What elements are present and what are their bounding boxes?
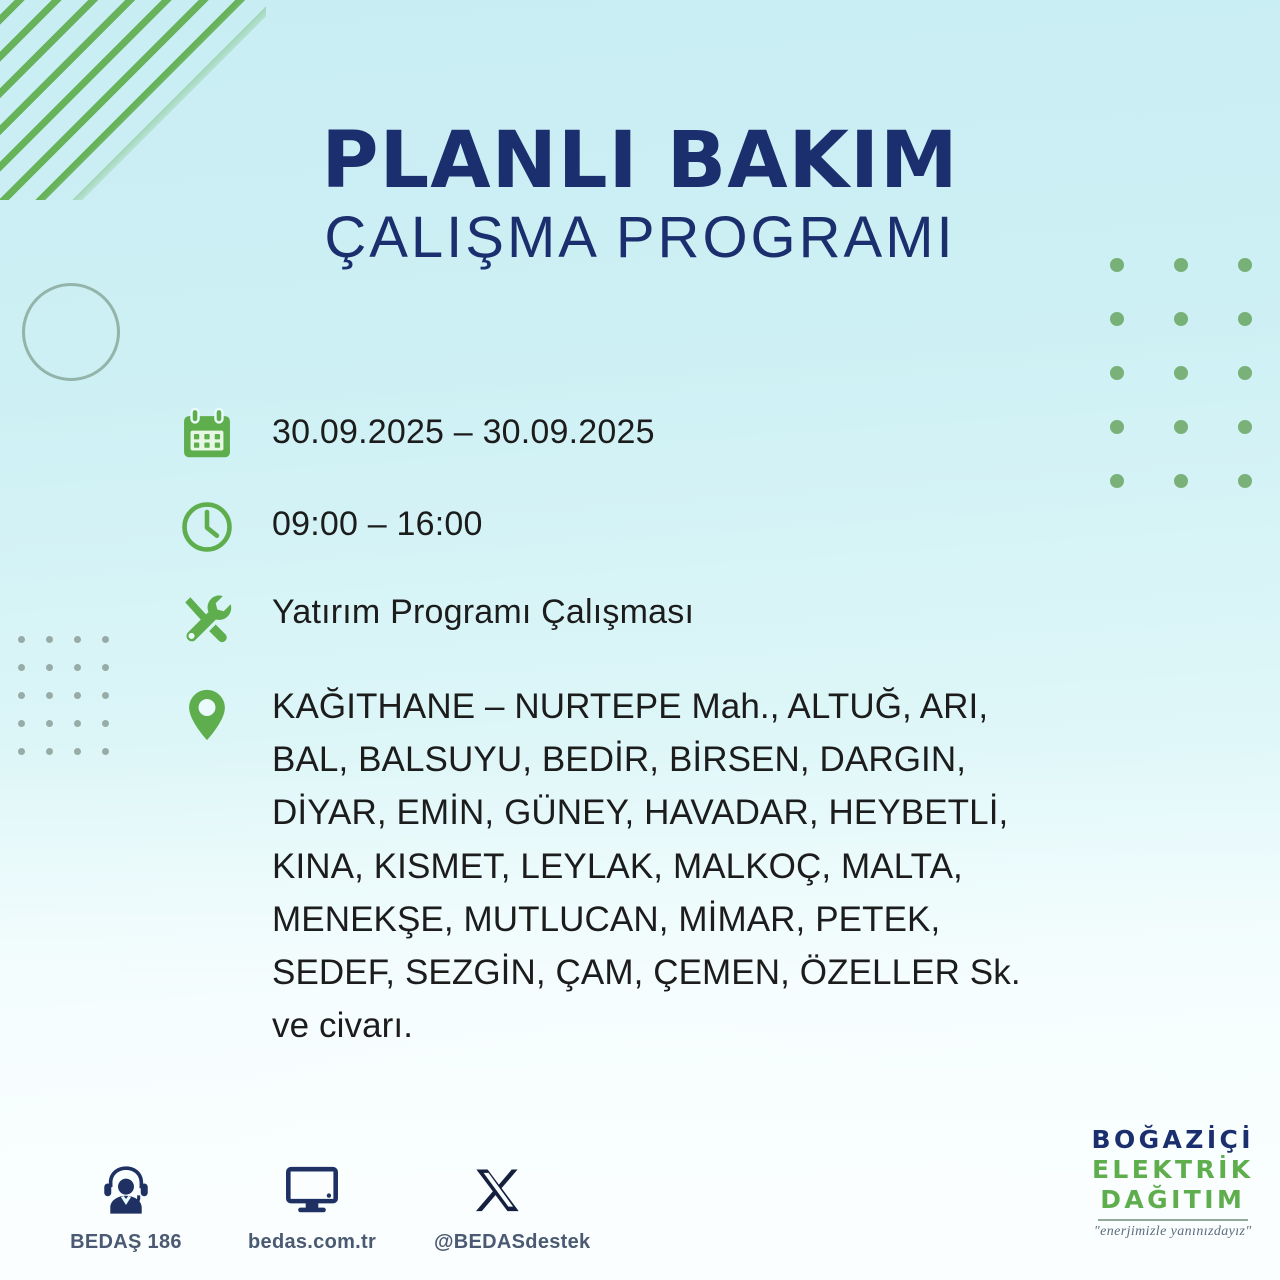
- detail-row-work-type: Yatırım Programı Çalışması: [178, 588, 1098, 648]
- tools-icon: [178, 588, 272, 648]
- contact-website-label: bedas.com.tr: [248, 1231, 376, 1254]
- contact-phone-label: BEDAŞ 186: [62, 1231, 190, 1254]
- monitor-icon: [248, 1157, 376, 1219]
- work-type-value: Yatırım Programı Çalışması: [272, 588, 694, 638]
- headset-support-icon: [62, 1157, 190, 1219]
- location-value: KAĞITHANE – NURTEPE Mah., ALTUĞ, ARI, BA…: [272, 680, 1021, 1052]
- address-line: BAL, BALSUYU, BEDİR, BİRSEN, DARGIN,: [272, 733, 1021, 786]
- company-logo: BOĞAZİÇİ ELEKTRİK DAĞITIM "enerjimizle y…: [1092, 1125, 1254, 1240]
- footer-contact-links: BEDAŞ 186 bedas.com.tr: [62, 1157, 562, 1254]
- calendar-icon: [178, 404, 272, 464]
- logo-line-dagitim: DAĞITIM: [1092, 1185, 1254, 1214]
- logo-line-bogazici: BOĞAZİÇİ: [1092, 1125, 1254, 1154]
- address-line: DİYAR, EMİN, GÜNEY, HAVADAR, HEYBETLİ,: [272, 786, 1021, 839]
- address-line: MENEKŞE, MUTLUCAN, MİMAR, PETEK,: [272, 893, 1021, 946]
- footer: BEDAŞ 186 bedas.com.tr: [0, 1114, 1280, 1254]
- page-title: PLANLI BAKIM: [0, 122, 1280, 202]
- contact-x-social[interactable]: @BEDASdestek: [434, 1157, 562, 1254]
- detail-row-date: 30.09.2025 – 30.09.2025: [178, 404, 1098, 464]
- circle-outline-decoration: [22, 283, 120, 381]
- dot-grid-right-decoration: [1110, 258, 1280, 528]
- logo-line-elektrik: ELEKTRİK: [1092, 1155, 1254, 1184]
- clock-icon: [178, 496, 272, 556]
- address-line: KINA, KISMET, LEYLAK, MALKOÇ, MALTA,: [272, 840, 1021, 893]
- date-range-value: 30.09.2025 – 30.09.2025: [272, 404, 655, 458]
- address-line: SEDEF, SEZGİN, ÇAM, ÇEMEN, ÖZELLER Sk.: [272, 946, 1021, 999]
- dot-grid-left-decoration: [18, 636, 130, 776]
- contact-website[interactable]: bedas.com.tr: [248, 1157, 376, 1254]
- detail-row-location: KAĞITHANE – NURTEPE Mah., ALTUĞ, ARI, BA…: [178, 680, 1098, 1052]
- outage-details: 30.09.2025 – 30.09.2025 09:00 – 16:00 Ya…: [178, 404, 1098, 1052]
- contact-phone[interactable]: BEDAŞ 186: [62, 1157, 190, 1254]
- page-subtitle: ÇALIŞMA PROGRAMI: [0, 208, 1280, 269]
- address-line: KAĞITHANE – NURTEPE Mah., ALTUĞ, ARI,: [272, 680, 1021, 733]
- detail-row-time: 09:00 – 16:00: [178, 496, 1098, 556]
- time-range-value: 09:00 – 16:00: [272, 496, 483, 550]
- logo-divider: [1098, 1219, 1248, 1221]
- address-line: ve civarı.: [272, 999, 1021, 1052]
- map-pin-icon: [178, 680, 272, 744]
- x-twitter-icon: [434, 1157, 562, 1219]
- logo-tagline: "enerjimizle yanınızdayız": [1092, 1224, 1254, 1240]
- page-header: PLANLI BAKIM ÇALIŞMA PROGRAMI: [0, 122, 1280, 268]
- contact-x-label: @BEDASdestek: [434, 1231, 562, 1254]
